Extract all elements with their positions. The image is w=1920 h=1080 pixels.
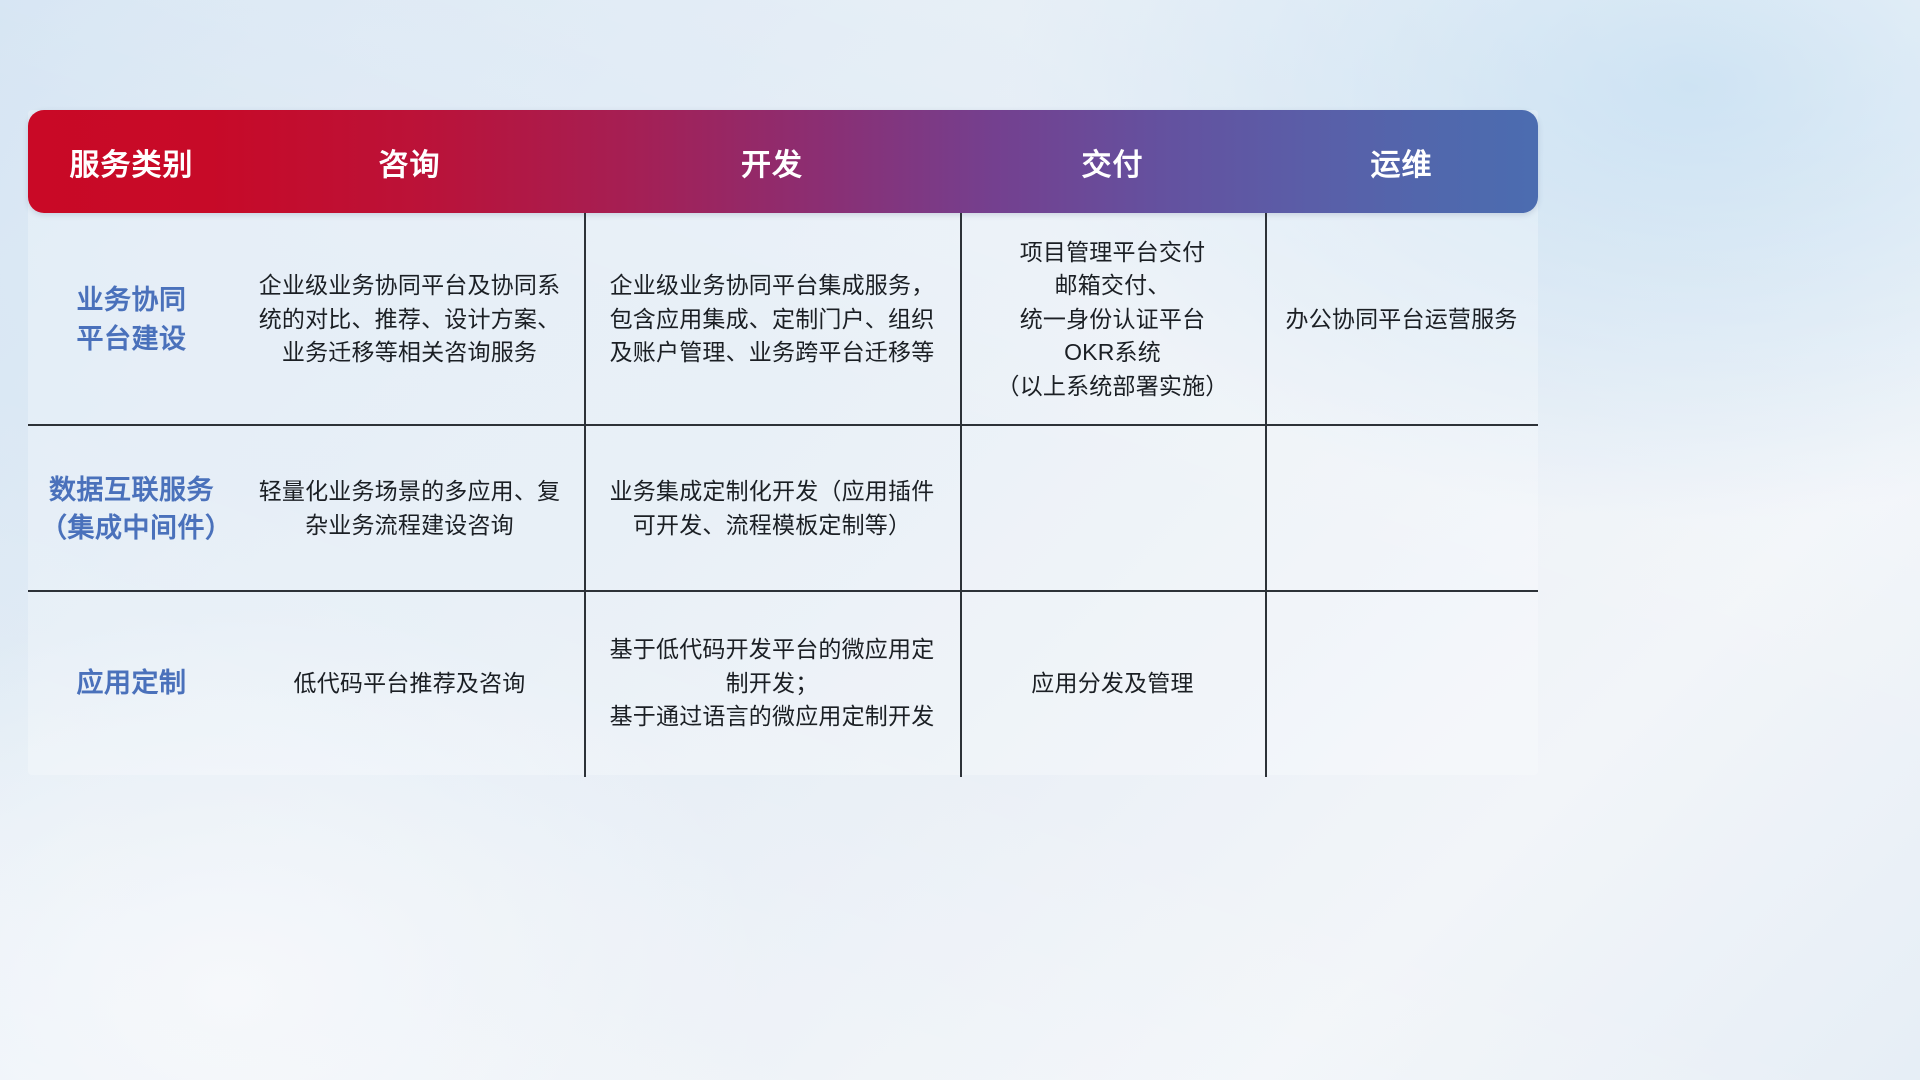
column-header-consulting: 咨询 [235,140,584,184]
table-row: 业务协同 平台建设 企业级业务协同平台及协同系 统的对比、推荐、设计方案、 业务… [28,213,1538,426]
category-label: 应用定制 [77,664,187,702]
cell-consulting: 企业级业务协同平台及协同系 统的对比、推荐、设计方案、 业务迁移等相关咨询服务 [235,213,584,426]
cell-development: 业务集成定制化开发（应用插件 可开发、流程模板定制等） [584,426,960,592]
cell-text: 应用分发及管理 [1031,667,1193,701]
table-body: 业务协同 平台建设 企业级业务协同平台及协同系 统的对比、推荐、设计方案、 业务… [28,213,1538,775]
cell-text: 企业级业务协同平台及协同系 统的对比、推荐、设计方案、 业务迁移等相关咨询服务 [259,269,561,370]
cell-delivery [960,426,1265,592]
cell-consulting: 低代码平台推荐及咨询 [235,592,584,775]
cell-text: 项目管理平台交付 邮箱交付、 统一身份认证平台 OKR系统 （以上系统部署实施） [997,236,1229,404]
cell-category: 业务协同 平台建设 [28,213,235,426]
cell-consulting: 轻量化业务场景的多应用、复 杂业务流程建设咨询 [235,426,584,592]
column-header-service-category: 服务类别 [28,140,235,184]
cell-text: 基于低代码开发平台的微应用定 制开发； 基于通过语言的微应用定制开发 [610,633,935,734]
cell-development: 基于低代码开发平台的微应用定 制开发； 基于通过语言的微应用定制开发 [584,592,960,775]
column-header-development: 开发 [584,140,960,184]
cell-operations: 办公协同平台运营服务 [1265,213,1538,426]
cell-operations [1265,592,1538,775]
column-header-delivery: 交付 [960,140,1265,184]
cell-text: 轻量化业务场景的多应用、复 杂业务流程建设咨询 [259,475,561,542]
cell-development: 企业级业务协同平台集成服务， 包含应用集成、定制门户、组织 及账户管理、业务跨平… [584,213,960,426]
cell-text: 业务集成定制化开发（应用插件 可开发、流程模板定制等） [610,475,935,542]
cell-text: 办公协同平台运营服务 [1286,303,1518,337]
cell-category: 应用定制 [28,592,235,775]
column-header-operations: 运维 [1265,140,1538,184]
category-label: 数据互联服务 （集成中间件） [40,471,223,548]
cell-category: 数据互联服务 （集成中间件） [28,426,235,592]
table-row: 应用定制 低代码平台推荐及咨询 基于低代码开发平台的微应用定 制开发； 基于通过… [28,592,1538,775]
cell-delivery: 应用分发及管理 [960,592,1265,775]
cell-text: 低代码平台推荐及咨询 [294,667,526,701]
table-header-row: 服务类别 咨询 开发 交付 运维 [28,110,1538,213]
category-label: 业务协同 平台建设 [77,281,187,358]
cell-delivery: 项目管理平台交付 邮箱交付、 统一身份认证平台 OKR系统 （以上系统部署实施） [960,213,1265,426]
cell-text: 企业级业务协同平台集成服务， 包含应用集成、定制门户、组织 及账户管理、业务跨平… [610,269,935,370]
service-matrix-table: 服务类别 咨询 开发 交付 运维 业务协同 平台建设 企业级业务协同平台及协同系… [28,110,1538,775]
cell-operations [1265,426,1538,592]
table-row: 数据互联服务 （集成中间件） 轻量化业务场景的多应用、复 杂业务流程建设咨询 业… [28,426,1538,592]
